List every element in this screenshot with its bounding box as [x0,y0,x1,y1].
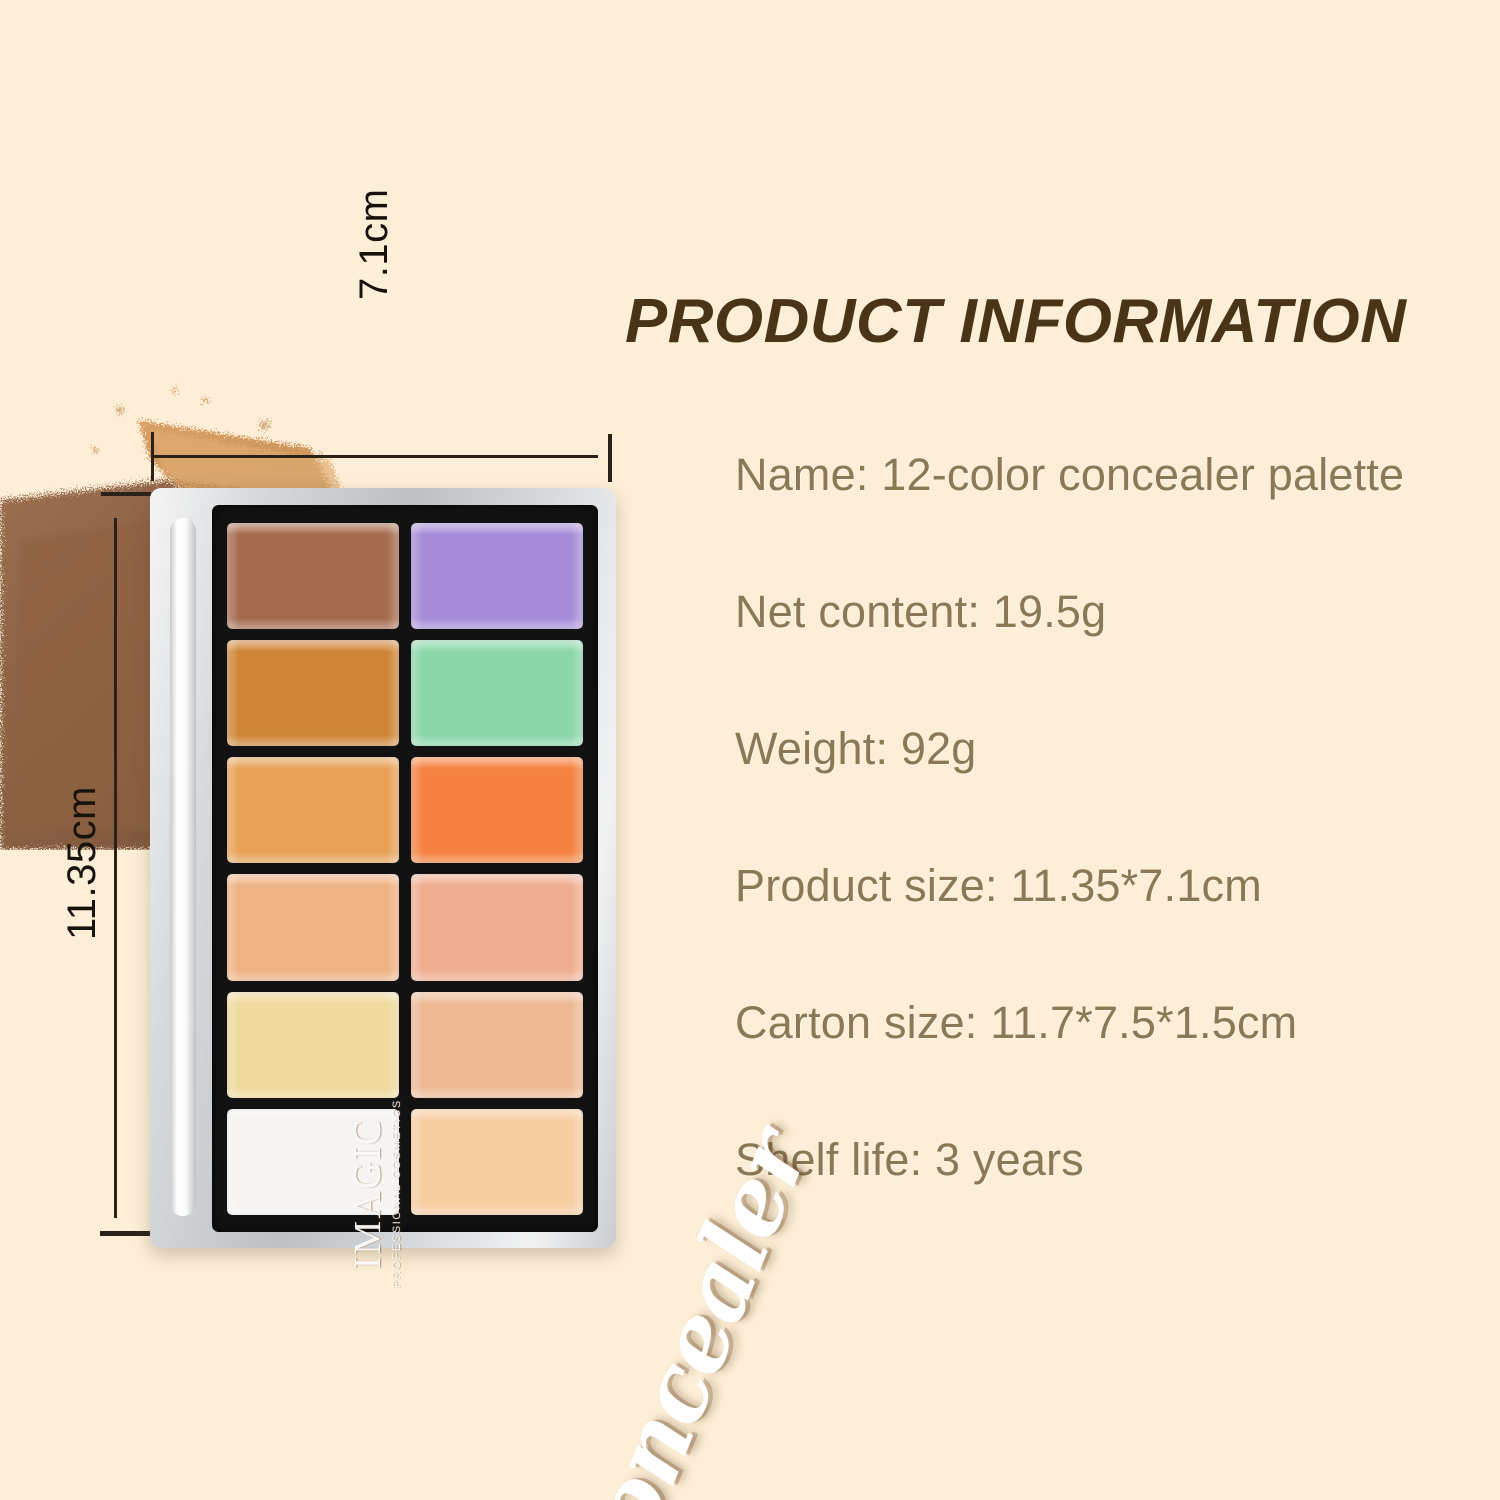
pan-bevel-highlight [227,757,399,863]
concealer-pan-salmon-peach [411,874,583,980]
product-info-list: Name: 12-color concealer paletteNet cont… [625,449,1485,1186]
concealer-pan-pale-yellow [227,992,399,1098]
pan-bevel-highlight [227,640,399,746]
concealer-pan-amber [227,640,399,746]
info-line-3: Product size: 11.35*7.1cm [625,860,1485,912]
info-line-4: Carton size: 11.7*7.5*1.5cm [625,997,1485,1049]
info-line-2: Weight: 92g [625,723,1485,775]
pan-bevel-highlight [411,992,583,1098]
pan-grid [227,523,583,1215]
pan-bevel-highlight [411,874,583,980]
pan-bevel-highlight [227,992,399,1098]
width-dimension-line [152,455,598,458]
height-dimension-tick-bottom [100,1231,152,1236]
height-dimension-tick-top [101,492,151,496]
product-info-page: 7.1cm 11.35cm IMAGIC PROFESSIONAL COSMET… [0,0,1500,1500]
concealer-pan-lavender [411,523,583,629]
product-information-panel: PRODUCT INFORMATION Name: 12-color conce… [625,286,1485,1186]
palette-hinge-strip [170,518,196,1216]
info-line-5: Shelf life: 3 years [625,1134,1485,1186]
width-dimension-tick-right [608,434,612,482]
page-title: PRODUCT INFORMATION [625,286,1500,357]
pan-bevel-highlight [411,1109,583,1215]
concealer-pan-white [227,1109,399,1215]
width-dimension-label: 7.1cm [352,170,397,300]
concealer-palette-product: IMAGIC PROFESSIONAL COSMETICS Concealer [150,488,616,1248]
pan-bevel-highlight [227,874,399,980]
info-line-0: Name: 12-color concealer palette [625,449,1485,501]
concealer-pan-light-orange [227,757,399,863]
concealer-pan-deep-brown [227,523,399,629]
height-dimension-line [114,518,117,1218]
concealer-pan-tan-peach [227,874,399,980]
pan-bevel-highlight [411,757,583,863]
pan-bevel-highlight [227,523,399,629]
concealer-pan-orange [411,757,583,863]
palette-black-tray [212,505,598,1232]
pan-bevel-highlight [411,640,583,746]
height-dimension-label: 11.35cm [60,786,105,940]
concealer-pan-light-peach [411,1109,583,1215]
info-line-1: Net content: 19.5g [625,586,1485,638]
concealer-pan-mint-green [411,640,583,746]
pan-bevel-highlight [411,523,583,629]
concealer-pan-warm-peach [411,992,583,1098]
pan-bevel-highlight [227,1109,399,1215]
